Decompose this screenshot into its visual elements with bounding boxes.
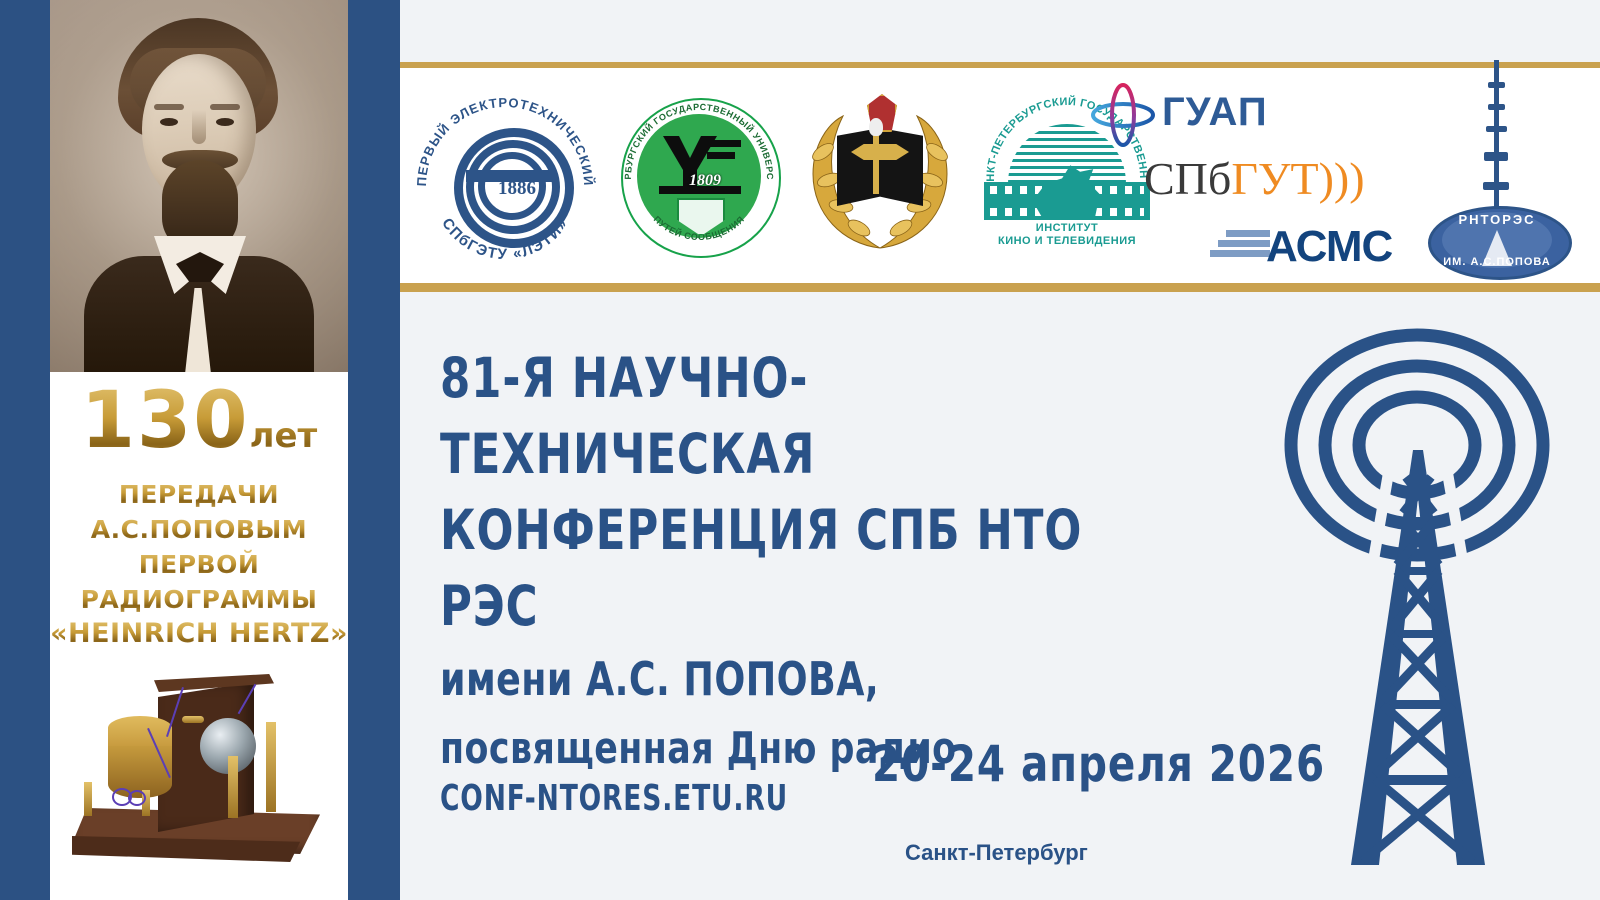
anniversary-block: 130лет ПЕРЕДАЧИ А.С.ПОПОВЫМ ПЕРВОЙ РАДИО… <box>50 372 348 672</box>
military-sword <box>873 132 879 194</box>
anniversary-number-row: 130лет <box>50 372 348 475</box>
conference-headline: 81-я НАУЧНО-ТЕХНИЧЕСКАЯ КОНФЕРЕНЦИЯ СПб … <box>440 340 1260 784</box>
guap-mark <box>1090 82 1156 148</box>
rntores-mast-seg-2 <box>1488 104 1505 110</box>
rntores-ring-text: РНТОРЭС <box>1402 212 1592 227</box>
portrait-nose <box>192 110 206 144</box>
anniversary-line-3: ПЕРВОЙ <box>50 549 348 580</box>
asms-bar-2 <box>1218 240 1270 247</box>
anniversary-line-5: «HEINRICH HERTZ» <box>50 617 348 651</box>
apparatus-lever-2 <box>266 722 276 812</box>
apparatus-terminal-1 <box>84 782 92 816</box>
logo-spbgut[interactable]: СПбГУТ))) <box>1144 152 1384 214</box>
popov-portrait-photo <box>50 0 348 372</box>
leti-year: 1886 <box>498 178 536 200</box>
sidebar-white-panel: 130лет ПЕРЕДАЧИ А.С.ПОПОВЫМ ПЕРВОЙ РАДИО… <box>50 0 348 900</box>
asms-bar-3 <box>1210 250 1270 257</box>
logo-military-academy[interactable] <box>795 88 965 268</box>
anniversary-line-1: ПЕРЕДАЧИ <box>50 479 348 510</box>
headline-line-1: 81-я НАУЧНО-ТЕХНИЧЕСКАЯ <box>440 340 1162 492</box>
portrait-brow-left <box>154 104 184 110</box>
rntores-mast-seg-4 <box>1484 152 1508 161</box>
military-torch-flame <box>869 118 883 136</box>
poster-canvas: 130лет ПЕРЕДАЧИ А.С.ПОПОВЫМ ПЕРВОЙ РАДИО… <box>0 0 1600 900</box>
asms-bars <box>1208 230 1270 264</box>
gikit-label-line-2: КИНО И ТЕЛЕВИДЕНИЯ <box>978 235 1156 247</box>
pgups-year: 1809 <box>689 172 721 190</box>
apparatus-wire-coil-2 <box>128 790 146 806</box>
spbgut-wordmark-orange: ГУТ))) <box>1231 153 1364 204</box>
logo-rntores[interactable]: РНТОРЭС ИМ. А.С.ПОПОВА <box>1402 60 1592 290</box>
portrait-brow-right <box>210 104 240 110</box>
logo-guap[interactable]: ГУАП <box>1090 82 1390 148</box>
apparatus-lever-1 <box>228 756 238 818</box>
rntores-mast-seg-3 <box>1486 126 1507 132</box>
portrait-eye-right <box>216 118 234 126</box>
popov-apparatus-photo <box>50 660 348 900</box>
rntores-mast-seg-5 <box>1483 182 1509 190</box>
headline-line-3: имени А.С. ПОПОВА, <box>440 644 1162 714</box>
apparatus-screw <box>182 716 204 723</box>
anniversary-line-2: А.С.ПОПОВЫМ <box>50 514 348 545</box>
headline-line-2: КОНФЕРЕНЦИЯ СПб НТО РЭС <box>440 492 1162 644</box>
asms-bar-1 <box>1226 230 1270 237</box>
anniversary-line-4: РАДИОГРАММЫ <box>50 584 348 615</box>
conference-city: Санкт-Петербург <box>905 840 1088 866</box>
logo-asms[interactable]: АСМС <box>1208 220 1408 276</box>
military-open-book <box>837 128 923 206</box>
anniversary-unit: лет <box>250 416 318 456</box>
left-sidebar: 130лет ПЕРЕДАЧИ А.С.ПОПОВЫМ ПЕРВОЙ РАДИО… <box>0 0 400 900</box>
portrait-eye-left <box>160 118 178 126</box>
logo-leti[interactable]: ПЕРВЫЙ ЭЛЕКТРОТЕХНИЧЕСКИЙ СПбГЭТУ «ЛЭТИ»… <box>410 90 600 265</box>
spbgut-wordmark-dark: СПб <box>1144 153 1231 204</box>
gikit-label-line-1: ИНСТИТУТ <box>978 222 1156 234</box>
rntores-mast-seg-1 <box>1488 82 1505 88</box>
logo-row: ПЕРВЫЙ ЭЛЕКТРОТЕХНИЧЕСКИЙ СПбГЭТУ «ЛЭТИ»… <box>400 68 1600 288</box>
anniversary-number: 130 <box>81 376 250 466</box>
guap-wordmark: ГУАП <box>1162 90 1268 135</box>
radio-tower-graphic <box>1245 305 1590 885</box>
conference-website-url[interactable]: CONF-NTORES.ETU.RU <box>440 778 788 819</box>
rntores-bottom-text: ИМ. А.С.ПОПОВА <box>1402 256 1592 268</box>
logo-pgups[interactable]: ПЕТЕРБУРГСКИЙ ГОСУДАРСТВЕННЫЙ УНИВЕРСИТЕ… <box>615 94 783 262</box>
asms-wordmark: АСМС <box>1266 222 1392 272</box>
